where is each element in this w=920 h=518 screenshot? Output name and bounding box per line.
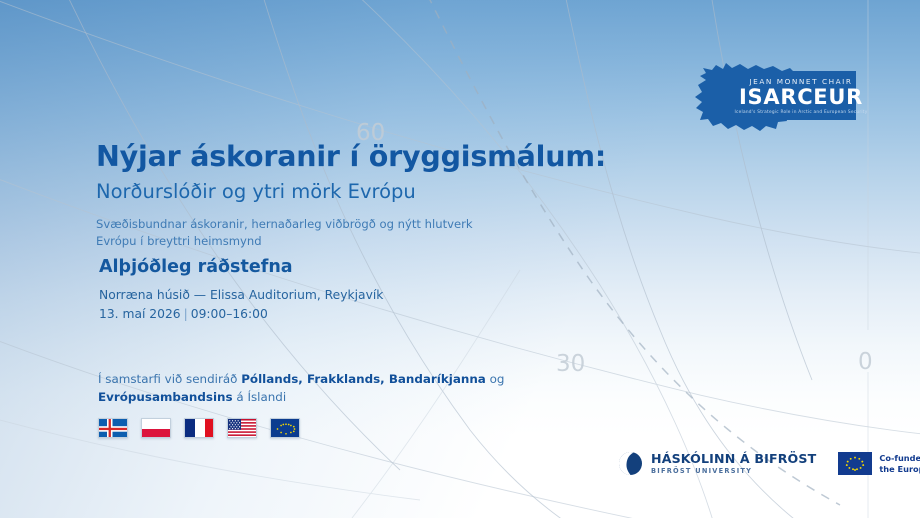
page-subtitle: Norðurslóðir og ytri mörk Evrópu [96,180,636,203]
page-title: Nýjar áskoranir í öryggismálum: [96,141,636,173]
iceland-flag [98,418,128,438]
partners-lead-in: Í samstarfi við sendiráð [98,372,241,386]
partners-block: Í samstarfi við sendiráð Póllands, Frakk… [98,370,618,438]
event-heading: Alþjóðleg ráðstefna [99,257,579,277]
page-description: Svæðisbundnar áskoranir, hernaðarleg við… [96,216,496,250]
partner-flags [98,418,618,438]
eu-cofunded-logo: Co-funded by the European Union [838,452,920,475]
isarceur-name-box: JEAN MONNET CHAIR ISARCEUR Iceland's Str… [746,71,856,120]
event-block: Alþjóðleg ráðstefna Norræna húsið — Elis… [99,257,579,324]
partners-conjunction: og [486,372,505,386]
event-time: 09:00–16:00 [191,307,268,321]
eu-cofunded-line2: the European Union [879,464,920,475]
datetime-separator: | [181,307,191,321]
eu-cofunded-text: Co-funded by the European Union [879,453,920,475]
event-datetime: 13. maí 2026|09:00–16:00 [99,305,579,324]
eu-cofunded-line1: Co-funded by [879,453,920,464]
usa-flag [227,418,257,438]
event-venue: Norræna húsið — Elissa Auditorium, Reykj… [99,286,579,305]
isarceur-name: ISARCEUR [739,87,863,108]
eu-flag [270,418,300,438]
bifrost-university-logo: HÁSKÓLINN Á BIFRÖST BIFRÖST UNIVERSITY [618,451,816,476]
partners-text: Í samstarfi við sendiráð Póllands, Frakk… [98,370,508,406]
france-flag [184,418,214,438]
bifrost-swirl-icon [618,451,643,476]
partners-tail: á Íslandi [233,390,287,404]
eu-flag-icon [838,452,872,475]
footer-logos: HÁSKÓLINN Á BIFRÖST BIFRÖST UNIVERSITY [618,451,920,476]
isarceur-logo: JEAN MONNET CHAIR ISARCEUR Iceland's Str… [690,54,856,134]
poland-flag [141,418,171,438]
isarceur-tagline: Iceland's Strategic Role in Arctic and E… [735,110,868,115]
event-date: 13. maí 2026 [99,307,181,321]
partner-eu: Evrópusambandsins [98,390,233,404]
partner-countries: Póllands, Frakklands, Bandaríkjanna [241,372,486,386]
conference-poster: 60 30 0 JEAN MONNET CHAIR ISARCEUR Icela… [0,0,920,518]
title-block: Nýjar áskoranir í öryggismálum: Norðursl… [96,141,636,251]
bifrost-name-is: HÁSKÓLINN Á BIFRÖST [651,452,816,466]
bifrost-name-en: BIFRÖST UNIVERSITY [651,468,816,475]
